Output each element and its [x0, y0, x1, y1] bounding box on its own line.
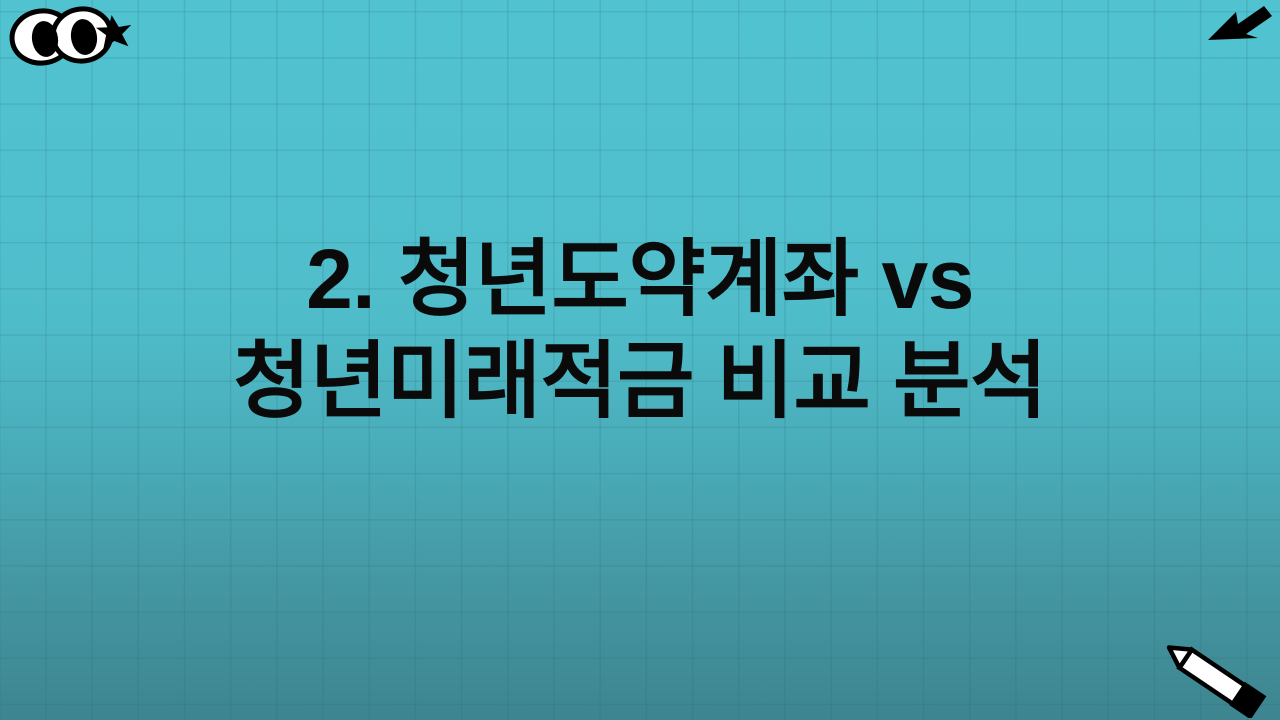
page-title-line-2: 청년미래적금 비교 분석 — [0, 334, 1280, 430]
slide-canvas: 2. 청년도약계좌 vs 청년미래적금 비교 분석 — [0, 0, 1280, 720]
googly-eyes-icon — [4, 2, 134, 72]
pencil-icon — [1156, 638, 1276, 718]
page-title-line-1: 2. 청년도약계좌 vs — [0, 232, 1280, 328]
page-title: 2. 청년도약계좌 vs 청년미래적금 비교 분석 — [0, 232, 1280, 430]
arrow-down-left-icon — [1204, 4, 1274, 56]
